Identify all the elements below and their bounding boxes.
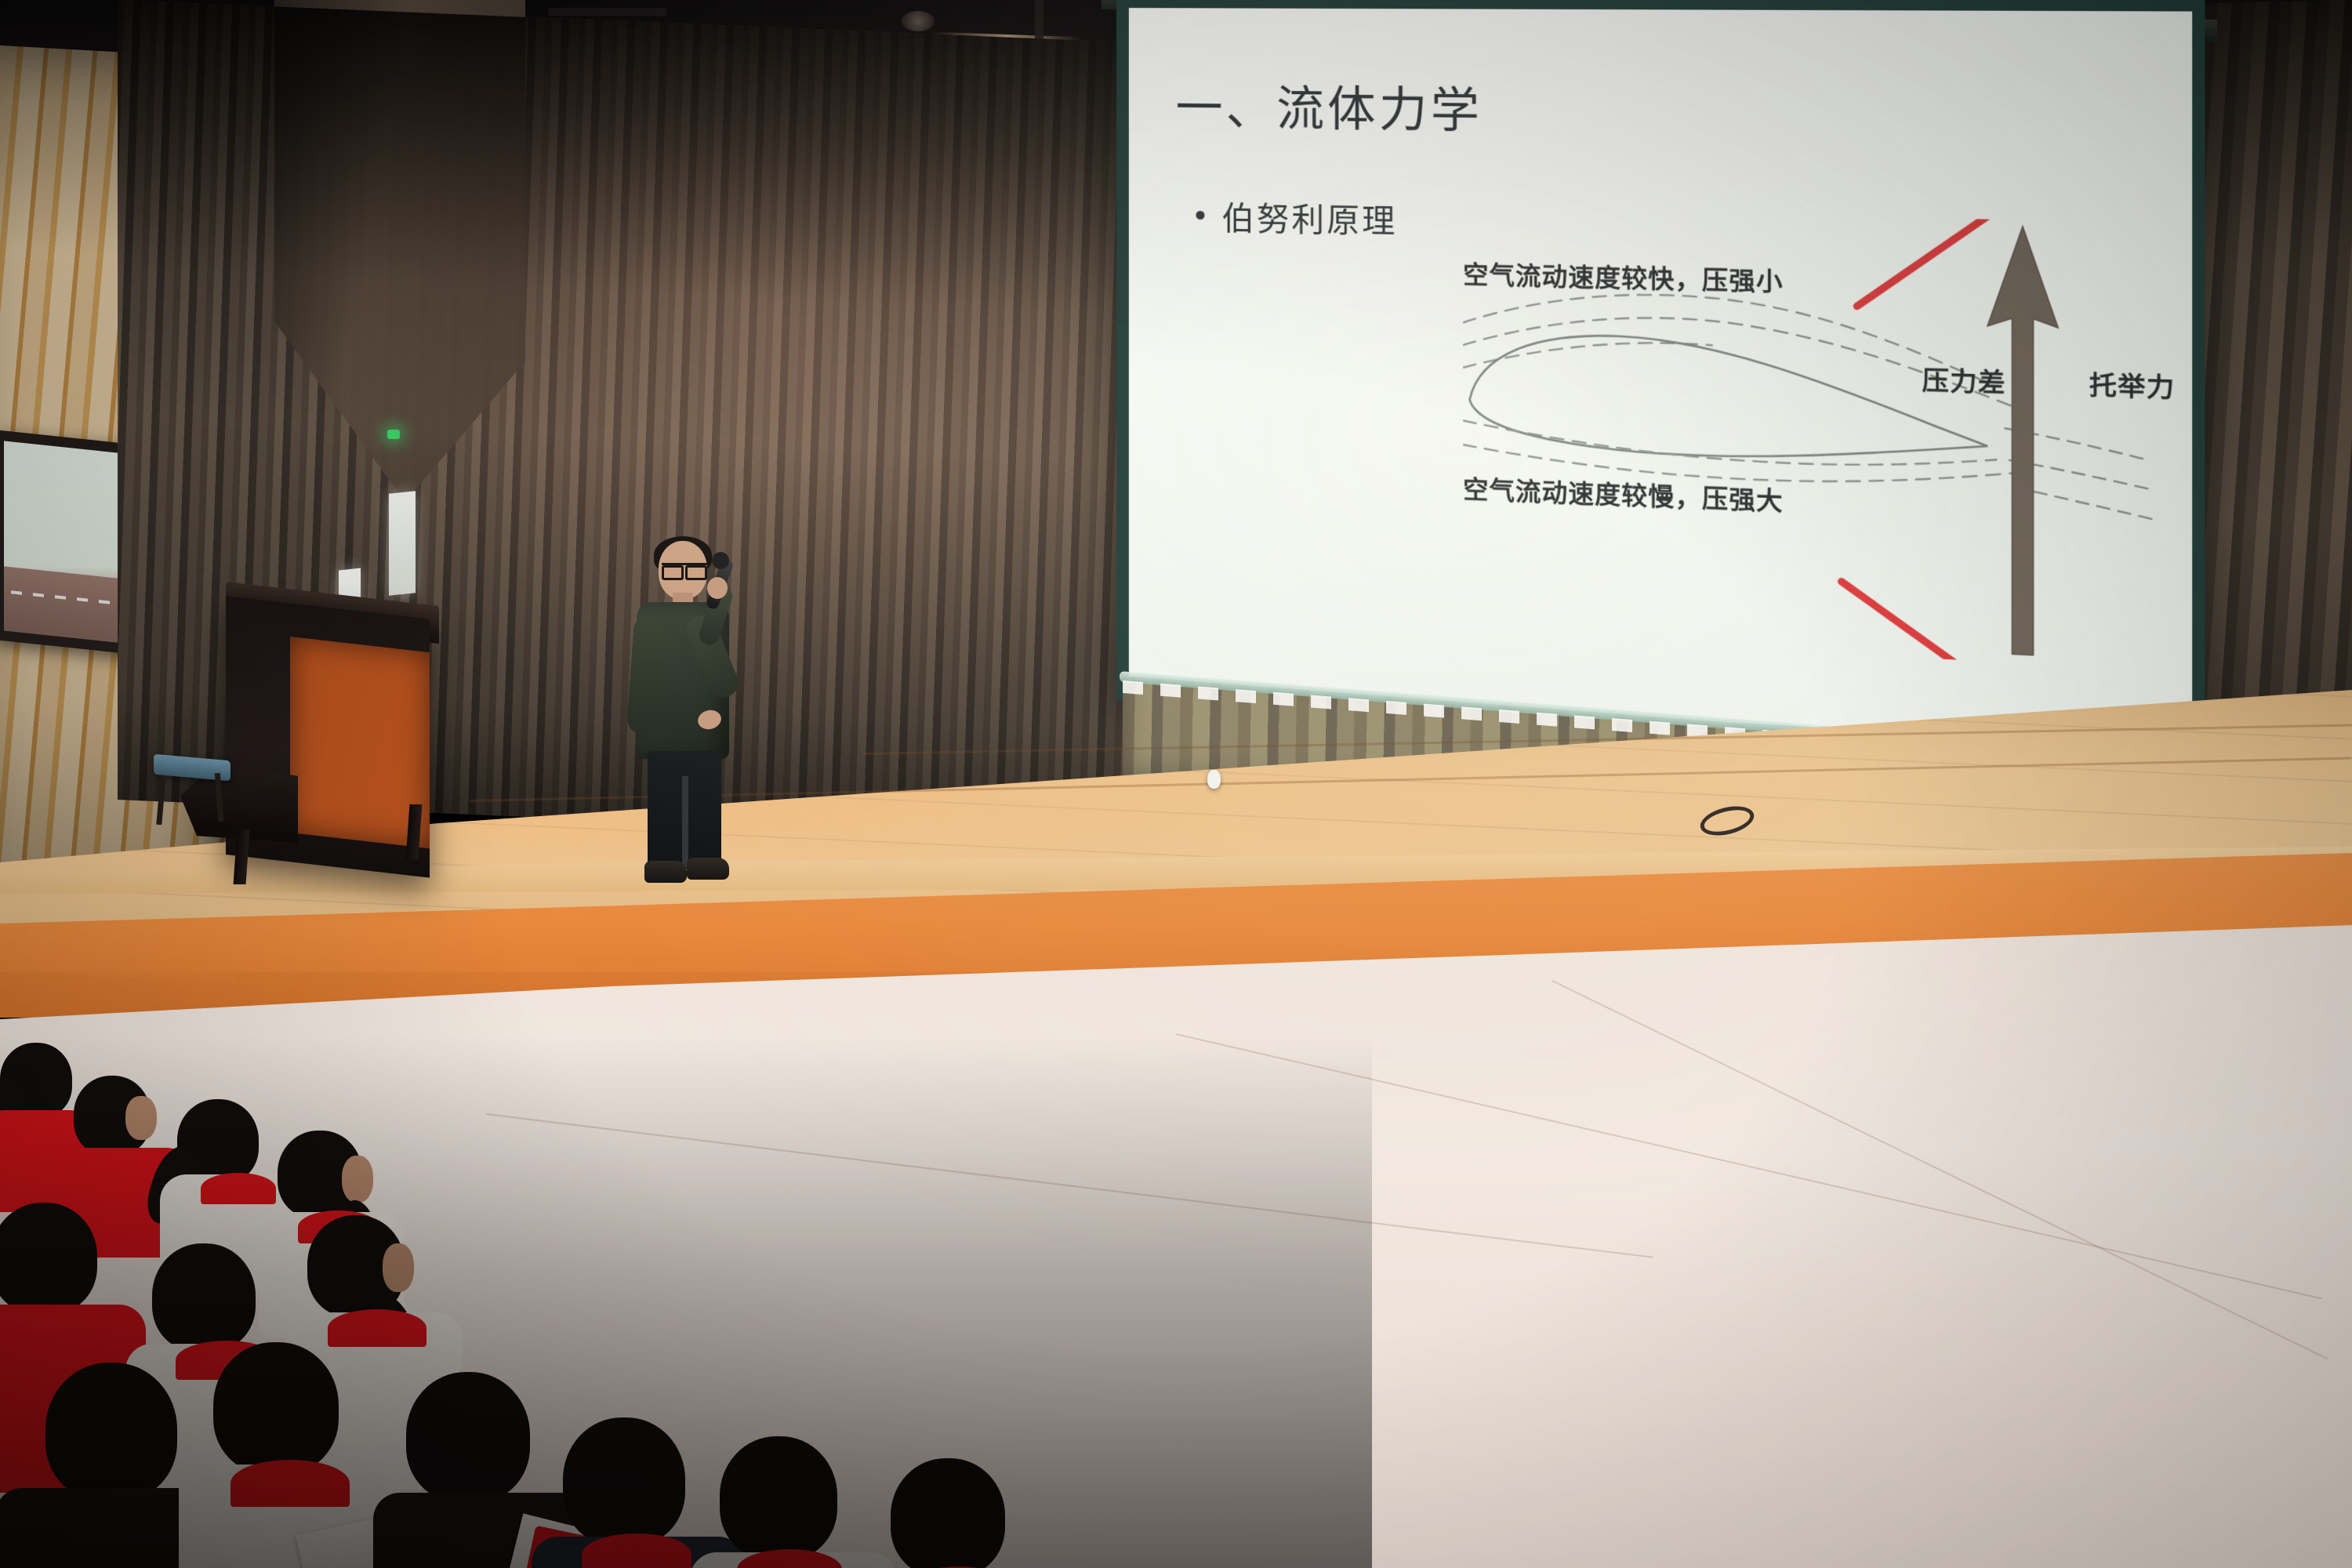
- student-face: [125, 1096, 157, 1140]
- student-head: [45, 1363, 177, 1501]
- slide-title: 一、流体力学: [1175, 70, 1483, 142]
- student-head: [891, 1458, 1005, 1568]
- slide-bullet-item: 伯努利原理: [1196, 191, 1397, 243]
- student-head: [0, 1203, 97, 1314]
- bullet-dot-icon: [1196, 210, 1204, 219]
- diagram-label-fast: 空气流动速度较快，压强小: [1463, 254, 1783, 298]
- glasses-icon: [662, 563, 707, 572]
- student-collar: [230, 1460, 350, 1507]
- floor-object: [1207, 770, 1221, 789]
- student-head: [406, 1372, 530, 1502]
- airfoil-diagram: 空气流动速度较快，压强小 空气流动速度较慢，压强大 压力差 托举力: [1463, 210, 2174, 670]
- student-head: [152, 1243, 256, 1352]
- accent-line-upper: [1857, 210, 2007, 310]
- audience: [0, 1035, 1372, 1568]
- presenter-shoe: [644, 861, 687, 883]
- student-face: [383, 1243, 414, 1292]
- monitor-image-road: [4, 566, 125, 643]
- student-head: [563, 1417, 685, 1546]
- student-collar: [201, 1173, 276, 1204]
- window-sliver: [389, 491, 416, 596]
- diagram-label-pressure-diff: 压力差: [1922, 359, 2006, 399]
- ceiling-truss: [549, 8, 666, 16]
- student-collar: [328, 1309, 426, 1347]
- presenter-shoe: [687, 858, 729, 880]
- status-led-icon: [387, 430, 400, 439]
- student-head: [213, 1342, 339, 1474]
- airfoil-shape: [1469, 332, 1987, 466]
- presenter-right-hand: [707, 577, 728, 599]
- presenter: [605, 541, 786, 902]
- student-head: [720, 1436, 837, 1560]
- auditorium-scene: 一、流体力学 伯努利原理: [0, 0, 2352, 1568]
- lift-arrow-icon: [1987, 226, 2058, 656]
- ceiling-light-icon: [902, 11, 935, 31]
- student-face: [342, 1156, 373, 1203]
- microphone-head-icon: [712, 552, 729, 569]
- accent-line-lower: [1842, 582, 1987, 670]
- projection-screen-surface: 一、流体力学 伯努利原理: [1129, 8, 2192, 747]
- presenter-leg-gap: [682, 776, 688, 867]
- wall-monitor: [0, 430, 135, 655]
- slide-bullet-label: 伯努利原理: [1222, 191, 1398, 242]
- diagram-label-lift: 托举力: [2089, 364, 2176, 405]
- projection-screen-frame: 一、流体力学 伯努利原理: [1116, 0, 2205, 760]
